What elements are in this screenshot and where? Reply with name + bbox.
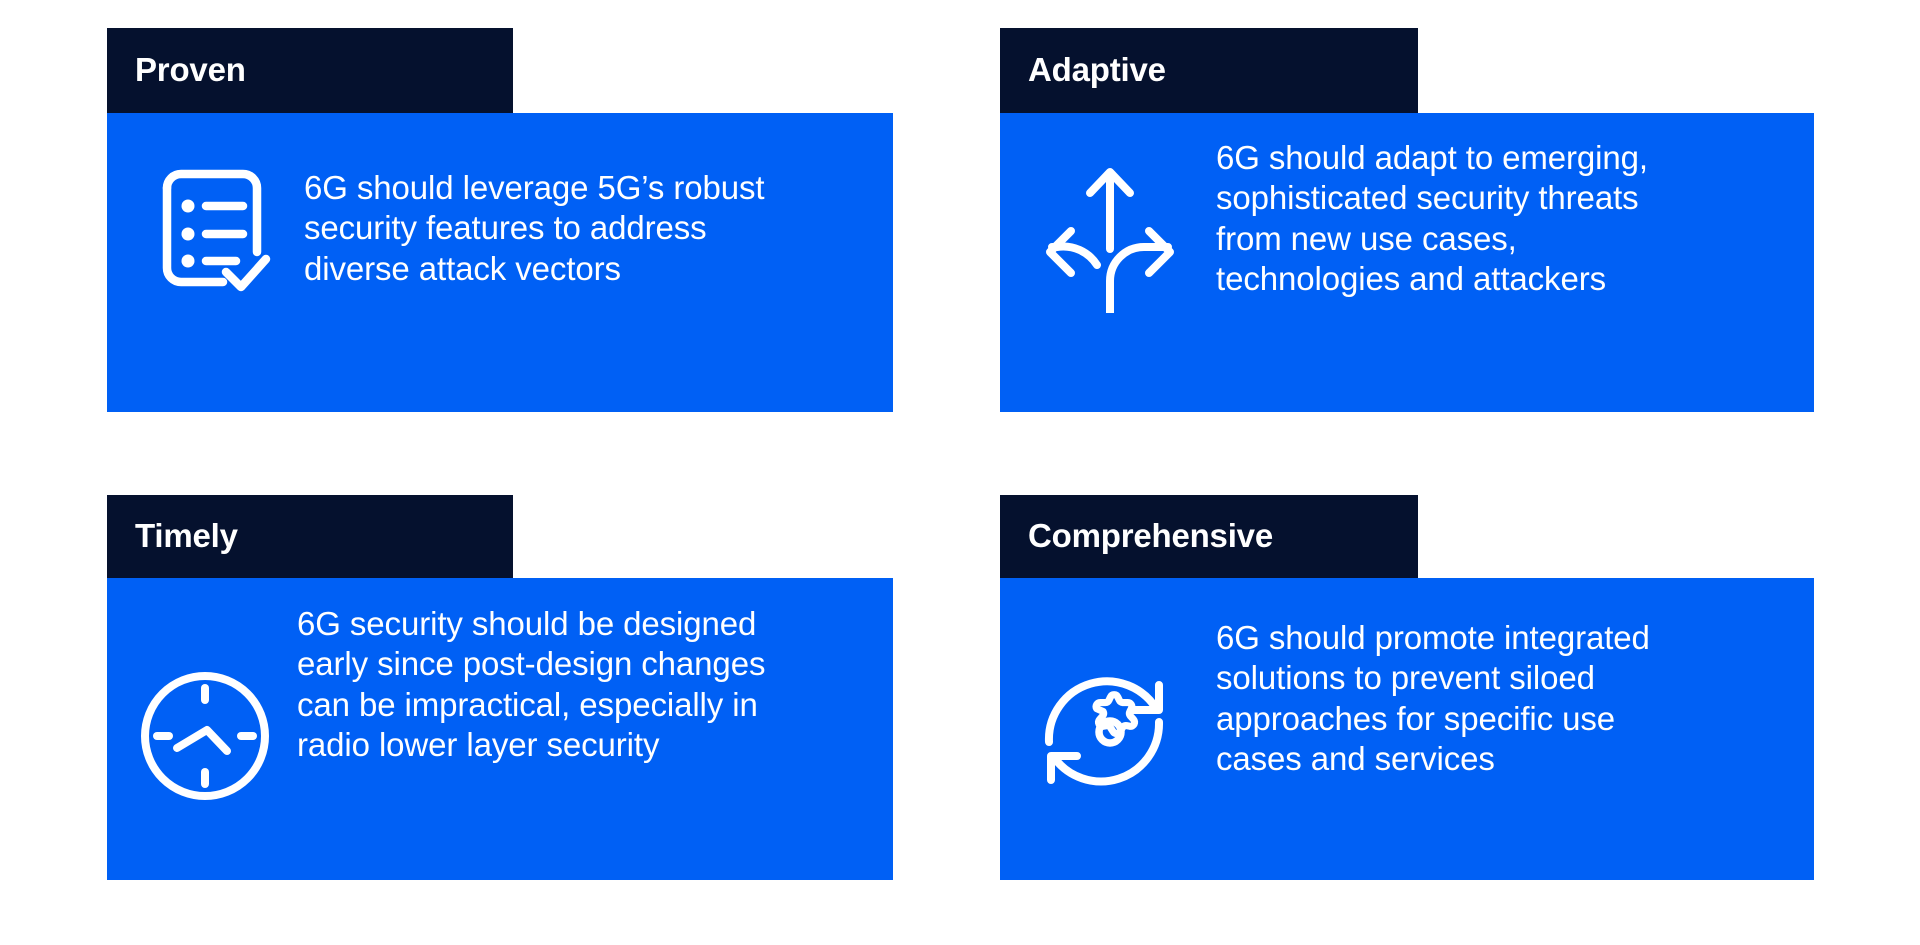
card-proven-text: 6G should leverage 5G’s robust security …: [292, 146, 765, 289]
principles-board: Proven 6G should leverage 5G’s robust se…: [0, 0, 1920, 945]
card-adaptive-title: Adaptive: [1028, 53, 1166, 88]
clock-icon: [122, 598, 287, 806]
checklist-check-icon: [132, 146, 292, 294]
card-proven-title: Proven: [135, 53, 246, 88]
card-adaptive-text: 6G should adapt to emerging, sophisticat…: [1210, 133, 1648, 299]
card-adaptive-header: Adaptive: [1000, 28, 1418, 113]
gear-refresh-icon: [1010, 598, 1210, 805]
card-timely-title: Timely: [135, 519, 238, 554]
card-proven-body: 6G should leverage 5G’s robust security …: [107, 113, 893, 412]
card-comprehensive-text: 6G should promote integrated solutions t…: [1210, 598, 1650, 779]
card-timely-header: Timely: [107, 495, 513, 578]
branching-arrows-icon: [1010, 133, 1210, 313]
card-timely-body: 6G security should be designed early sin…: [107, 578, 893, 880]
card-comprehensive-header: Comprehensive: [1000, 495, 1418, 578]
card-timely-text: 6G security should be designed early sin…: [287, 598, 765, 765]
card-comprehensive-title: Comprehensive: [1028, 519, 1273, 554]
card-adaptive-body: 6G should adapt to emerging, sophisticat…: [1000, 113, 1814, 412]
card-comprehensive-body: 6G should promote integrated solutions t…: [1000, 578, 1814, 880]
card-proven-header: Proven: [107, 28, 513, 113]
